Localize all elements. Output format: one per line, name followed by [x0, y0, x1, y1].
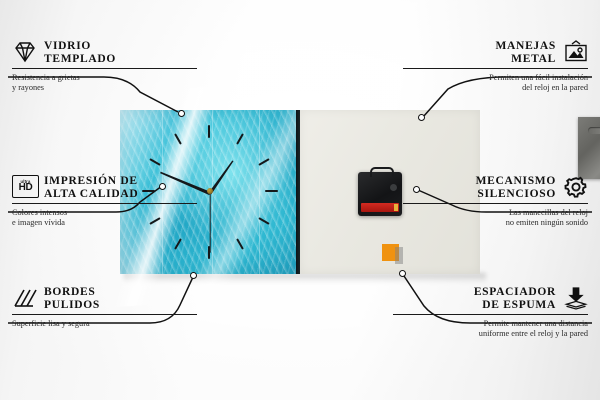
feature-title-line2: SILENCIOSO [477, 188, 556, 200]
feature-impresion-alta-calidad[interactable]: ultra HD IMPRESIÓN DE ALTA CALIDAD Color… [12, 175, 197, 229]
feature-title-line1: VIDRIO [44, 40, 91, 52]
feature-title-line1: MECANISMO [476, 175, 556, 187]
callout-marker-espaciador [399, 270, 406, 277]
feature-desc-line2: uniforme entre el reloj y la pared [479, 329, 588, 338]
feature-title-line1: IMPRESIÓN DE [44, 175, 138, 187]
feature-title-line2: DE ESPUMA [482, 299, 556, 311]
infographic-canvas: VIDRIO TEMPLADO Resistencia a grietas y … [0, 0, 600, 400]
callout-marker-bordes [190, 272, 197, 279]
feature-vidrio-templado[interactable]: VIDRIO TEMPLADO Resistencia a grietas y … [12, 40, 197, 94]
feature-divider [403, 203, 588, 204]
feature-title-line1: ESPACIADOR [474, 286, 556, 298]
feature-bordes-pulidos[interactable]: BORDES PULIDOS Superficie lisa y segura [12, 286, 197, 329]
callout-marker-vidrio [178, 110, 185, 117]
feature-desc-line1: Permite mantener una distancia [484, 319, 588, 328]
feature-divider [403, 68, 588, 69]
gear-icon [563, 175, 588, 200]
arrow-down-stack-icon [563, 286, 588, 311]
feature-divider [393, 314, 588, 315]
feature-desc-line2: del reloj en la pared [522, 83, 588, 92]
feature-desc-line2: no emiten ningún sonido [506, 218, 588, 227]
feature-divider [12, 203, 197, 204]
ultra-hd-icon-large-text: HD [19, 183, 33, 193]
feature-desc-line1: Colores intensos [12, 208, 67, 217]
feature-title-line2: METAL [511, 53, 556, 65]
feature-divider [12, 68, 197, 69]
feature-title-line1: MANEJAS [496, 40, 557, 52]
feature-divider [12, 314, 197, 315]
callout-marker-manejas [418, 114, 425, 121]
feature-manejas-metal[interactable]: MANEJAS METAL Permiten una fácil instala… [403, 40, 588, 94]
feature-desc-line1: Las manecillas del reloj [509, 208, 588, 217]
feature-desc-line2: e imagen vívida [12, 218, 65, 227]
feature-mecanismo-silencioso[interactable]: MECANISMO SILENCIOSO Las manecillas del … [403, 175, 588, 229]
feature-desc-line1: Resistencia a grietas [12, 73, 80, 82]
picture-frame-hanger-icon [563, 40, 588, 65]
feature-espaciador-espuma[interactable]: ESPACIADOR DE ESPUMA Permite mantener un… [393, 286, 588, 340]
feature-title-line2: PULIDOS [44, 299, 100, 311]
diagonal-lines-icon [12, 286, 37, 311]
feature-title-line2: TEMPLADO [44, 53, 116, 65]
feature-desc-line2: y rayones [12, 83, 44, 92]
diamond-icon [12, 40, 37, 65]
feature-title-line1: BORDES [44, 286, 96, 298]
feature-desc-line1: Superficie lisa y segura [12, 319, 90, 328]
feature-title-line2: ALTA CALIDAD [44, 188, 138, 200]
ultra-hd-icon: ultra HD [12, 175, 37, 200]
feature-desc-line1: Permiten una fácil instalación [489, 73, 588, 82]
